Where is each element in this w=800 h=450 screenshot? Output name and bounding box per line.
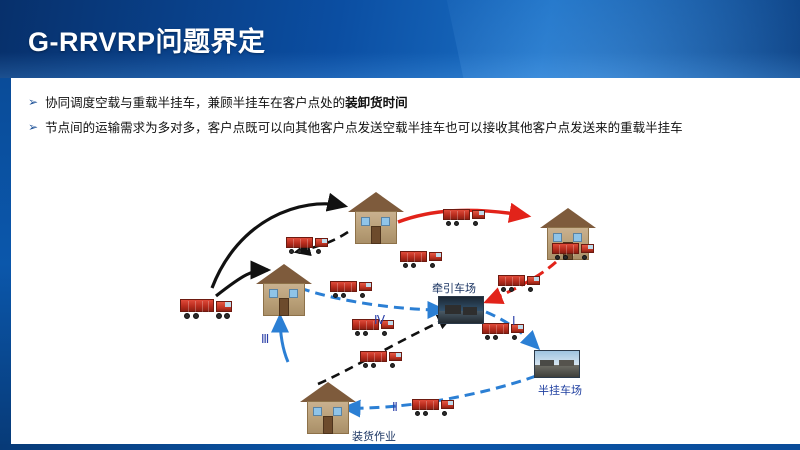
truck-windshield xyxy=(388,321,393,325)
house-roof xyxy=(256,264,312,284)
arrow-blue-route-iii xyxy=(280,316,288,362)
photo-trailer-shape xyxy=(540,360,554,366)
house-window xyxy=(269,289,278,298)
truck-center-upper xyxy=(400,250,442,268)
list-item: ➢ 节点间的运输需求为多对多，客户点既可以向其他客户点发送空载半挂车也可以接收其… xyxy=(28,117,772,138)
house-window xyxy=(573,233,582,242)
house-door xyxy=(279,298,289,316)
truck-center-left xyxy=(330,280,372,298)
list-item: ➢ 协同调度空载与重载半挂车，兼顾半挂车在客户点处的装卸货时间 xyxy=(28,92,772,113)
truck-windshield xyxy=(366,283,371,287)
network-diagram: 牵引车场 半挂车场 装货作业 Ⅰ Ⅱ Ⅲ Ⅳ xyxy=(0,170,800,445)
truck-windshield xyxy=(396,353,401,357)
truck-trailer xyxy=(552,243,579,254)
truck-trailer xyxy=(400,251,427,262)
truck-windshield xyxy=(534,277,539,281)
bullet-text: 节点间的运输需求为多对多，客户点既可以向其他客户点发送空载半挂车也可以接收其他客… xyxy=(45,117,683,138)
trailer-yard-label: 半挂车场 xyxy=(538,382,582,398)
house-door xyxy=(323,416,333,434)
truck-right-upper xyxy=(552,242,594,260)
photo-trailer-shape xyxy=(559,360,574,366)
slide: G-RRVRP问题界定 ➢ 协同调度空载与重载半挂车，兼顾半挂车在客户点处的装卸… xyxy=(0,0,800,450)
truck-trailer xyxy=(286,237,313,248)
house-window xyxy=(333,407,342,416)
house-roof xyxy=(300,382,356,402)
house-window xyxy=(553,233,562,242)
trailer-yard-photo xyxy=(534,350,580,378)
truck-windshield xyxy=(588,245,593,249)
bullet-list: ➢ 协同调度空载与重载半挂车，兼顾半挂车在客户点处的装卸货时间 ➢ 节点间的运输… xyxy=(28,92,772,142)
truck-trailer xyxy=(498,275,525,286)
truck-top-right xyxy=(443,208,485,226)
arrow-blue-left-to-depot xyxy=(300,288,444,310)
house-window xyxy=(361,217,370,226)
truck-right-low xyxy=(482,322,524,340)
truck-trailer xyxy=(330,281,357,292)
photo-vehicle-shape xyxy=(463,307,477,315)
route-label-i: Ⅰ xyxy=(512,314,516,328)
truck-trailer xyxy=(482,323,509,334)
truck-trailer xyxy=(443,209,470,220)
truck-trailer xyxy=(180,299,214,312)
tractor-depot-photo xyxy=(438,296,484,324)
bullet-marker-icon: ➢ xyxy=(28,92,38,112)
truck-windshield xyxy=(436,253,441,257)
page-title: G-RRVRP问题界定 xyxy=(28,20,266,59)
loading-operation-label: 装货作业 xyxy=(352,428,396,444)
slide-header: G-RRVRP问题界定 xyxy=(0,0,800,78)
tractor-depot-label: 牵引车场 xyxy=(432,280,476,296)
bullet-text: 协同调度空载与重载半挂车，兼顾半挂车在客户点处的装卸货时间 xyxy=(45,92,408,113)
truck-trailer xyxy=(360,351,387,362)
truck-windshield xyxy=(479,211,484,215)
house-window xyxy=(381,217,390,226)
truck-bottom xyxy=(412,398,454,416)
house-window xyxy=(313,407,322,416)
route-label-ii: Ⅱ xyxy=(392,400,398,414)
customer-house-top xyxy=(348,192,404,244)
route-label-iii: Ⅲ xyxy=(261,332,269,346)
route-label-iv: Ⅳ xyxy=(374,313,385,327)
house-door xyxy=(371,226,381,244)
truck-left-upper xyxy=(286,236,328,254)
truck-windshield xyxy=(518,325,523,329)
photo-ground xyxy=(535,365,579,377)
customer-house-left xyxy=(256,264,312,316)
truck-center-mid xyxy=(352,318,394,336)
truck-windshield xyxy=(322,239,327,243)
truck-windshield xyxy=(225,302,231,307)
truck-windshield xyxy=(448,401,453,405)
truck-trailer xyxy=(412,399,439,410)
customer-house-bottom xyxy=(300,382,356,434)
truck-center-right xyxy=(498,274,540,292)
bullet-marker-icon: ➢ xyxy=(28,117,38,137)
house-window xyxy=(289,289,298,298)
house-roof xyxy=(540,208,596,228)
truck-center-low xyxy=(360,350,402,368)
truck-far-left xyxy=(180,298,232,319)
photo-vehicle-shape xyxy=(445,305,461,314)
house-roof xyxy=(348,192,404,212)
